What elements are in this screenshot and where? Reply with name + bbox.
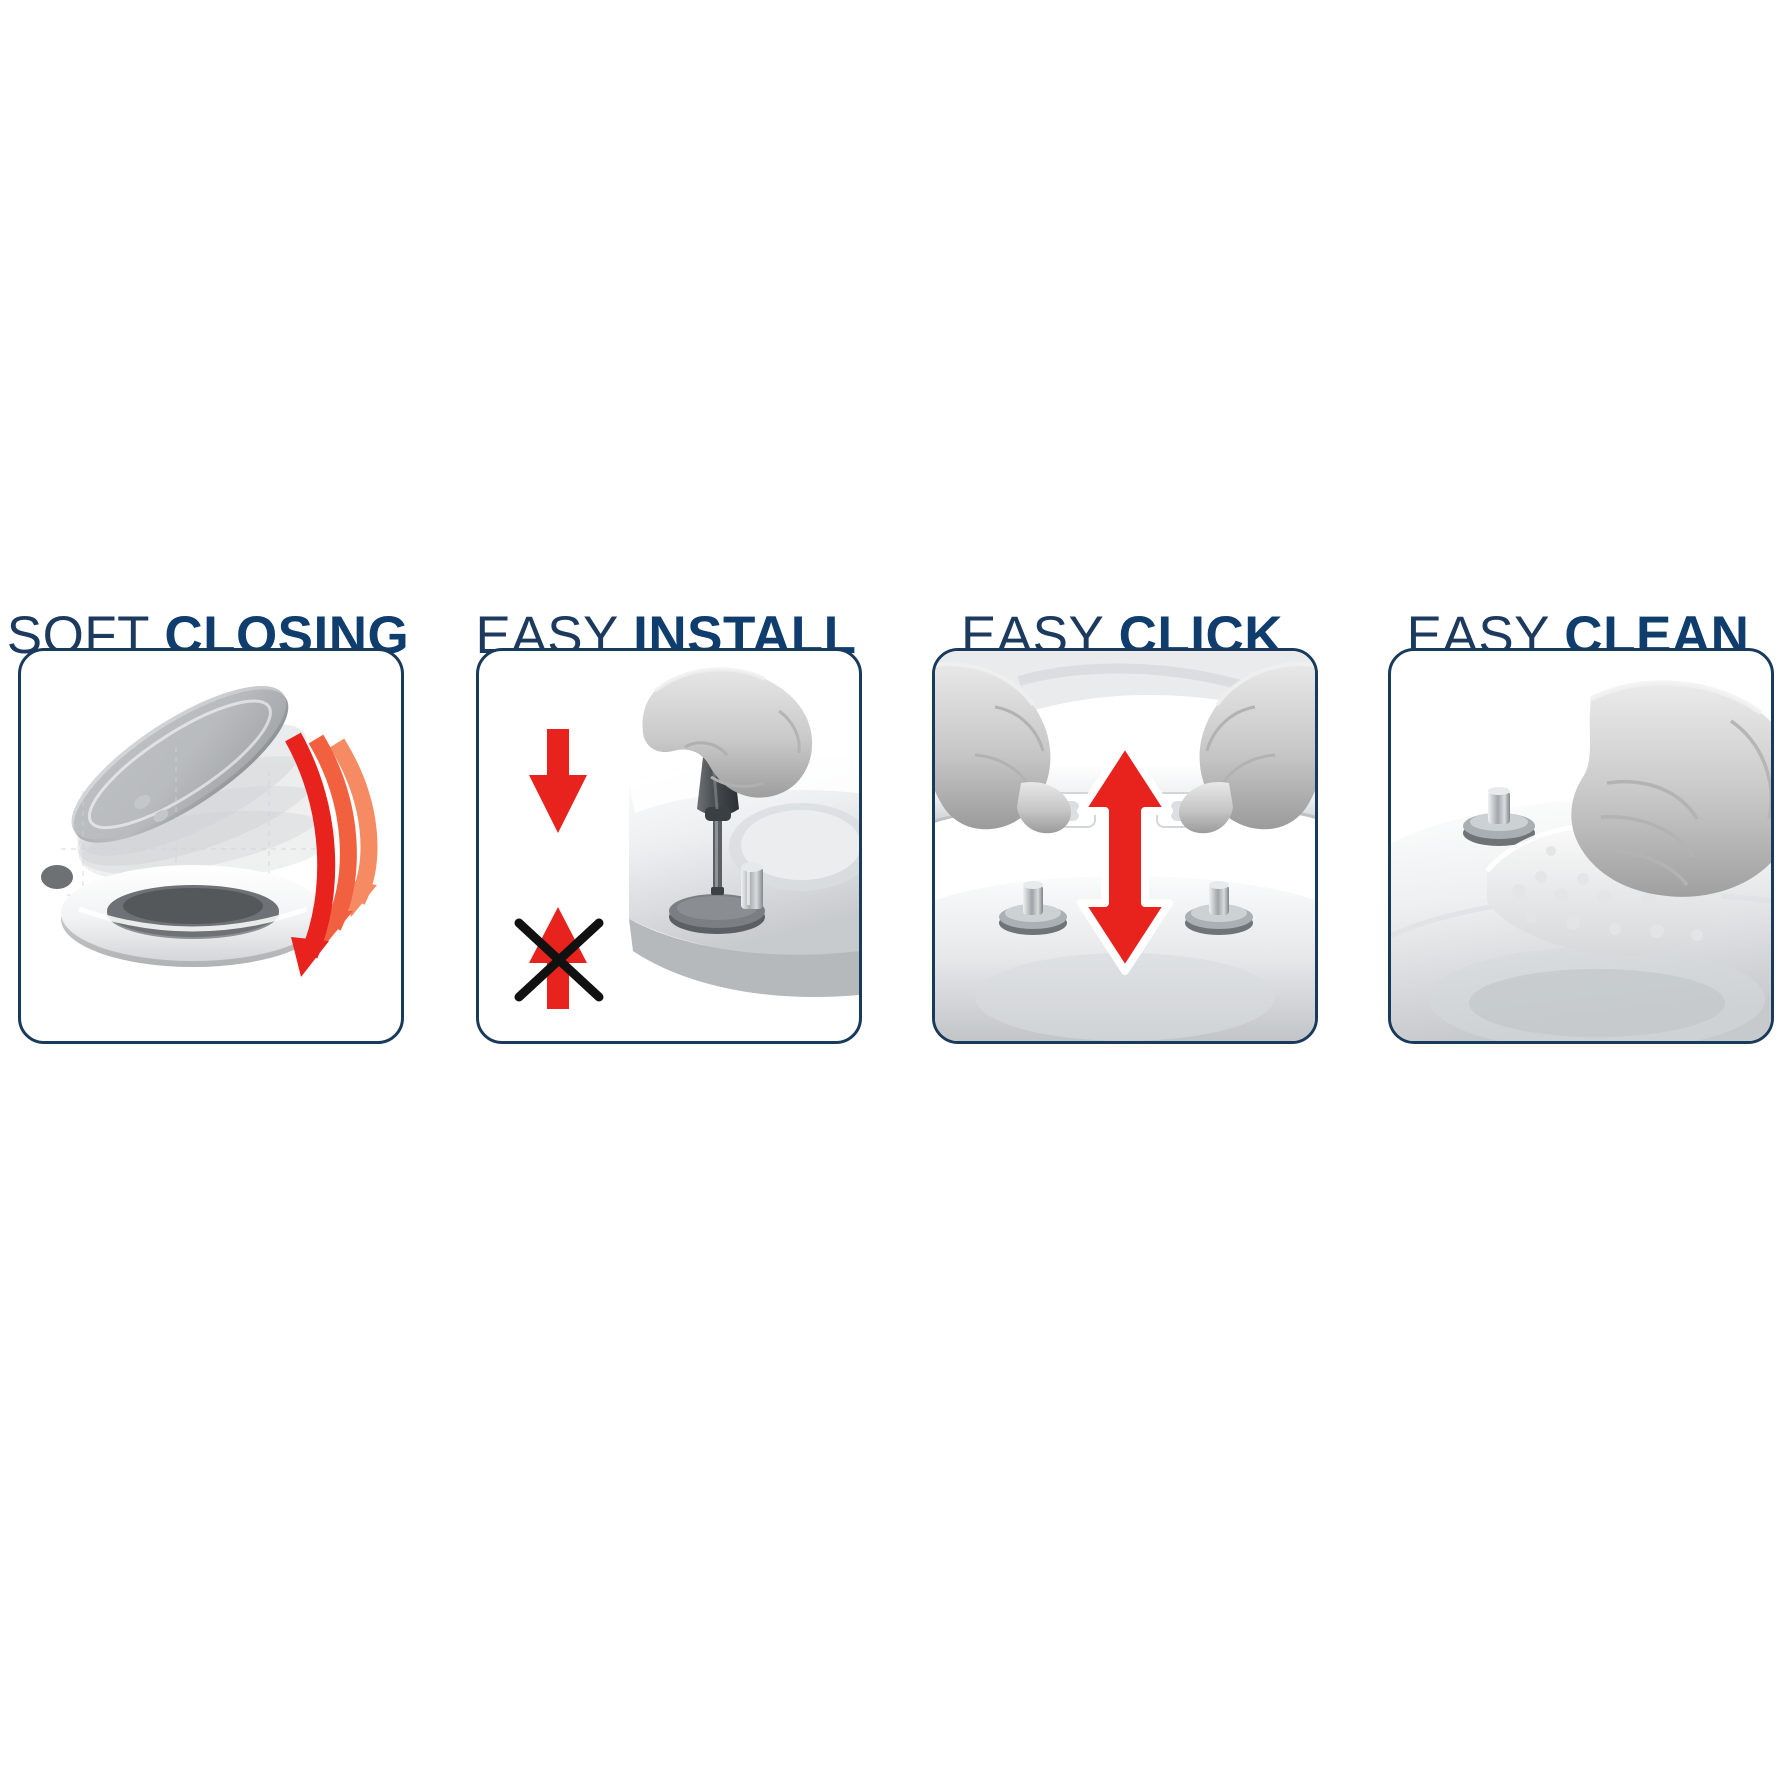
- hand-wiping-cloth-around-fixing-illustration: [1391, 651, 1771, 1041]
- feature-panel-easy-clean: [1388, 648, 1774, 1044]
- feature-strip: SOFT CLOSING: [0, 600, 1778, 1060]
- hand-screwdriver-fixing-toilet-illustration: [479, 651, 859, 1041]
- toilet-seat-lid-closing-sequence-illustration: [21, 651, 401, 1041]
- hinge-knuckle: [41, 865, 73, 889]
- feature-soft-closing: SOFT CLOSING: [6, 600, 410, 1060]
- install-direction-up-arrow-forbidden: [519, 907, 599, 1009]
- feature-panel-soft-closing: [18, 648, 404, 1044]
- feature-panel-easy-install: [476, 648, 862, 1044]
- chrome-stud: [741, 862, 763, 909]
- two-hands-clicking-seat-off-illustration: [935, 651, 1315, 1041]
- feature-easy-install: EASY INSTALL: [464, 600, 868, 1060]
- feature-easy-clean: EASY CLEAN: [1376, 600, 1778, 1060]
- feature-easy-click: EASY CLICK: [920, 600, 1324, 1060]
- feature-infographic: SOFT CLOSING: [0, 0, 1778, 1778]
- install-direction-down-arrow: [529, 729, 587, 833]
- hand-with-cloth: [1571, 683, 1771, 897]
- feature-panel-easy-click: [932, 648, 1318, 1044]
- seat-ring: [61, 865, 325, 967]
